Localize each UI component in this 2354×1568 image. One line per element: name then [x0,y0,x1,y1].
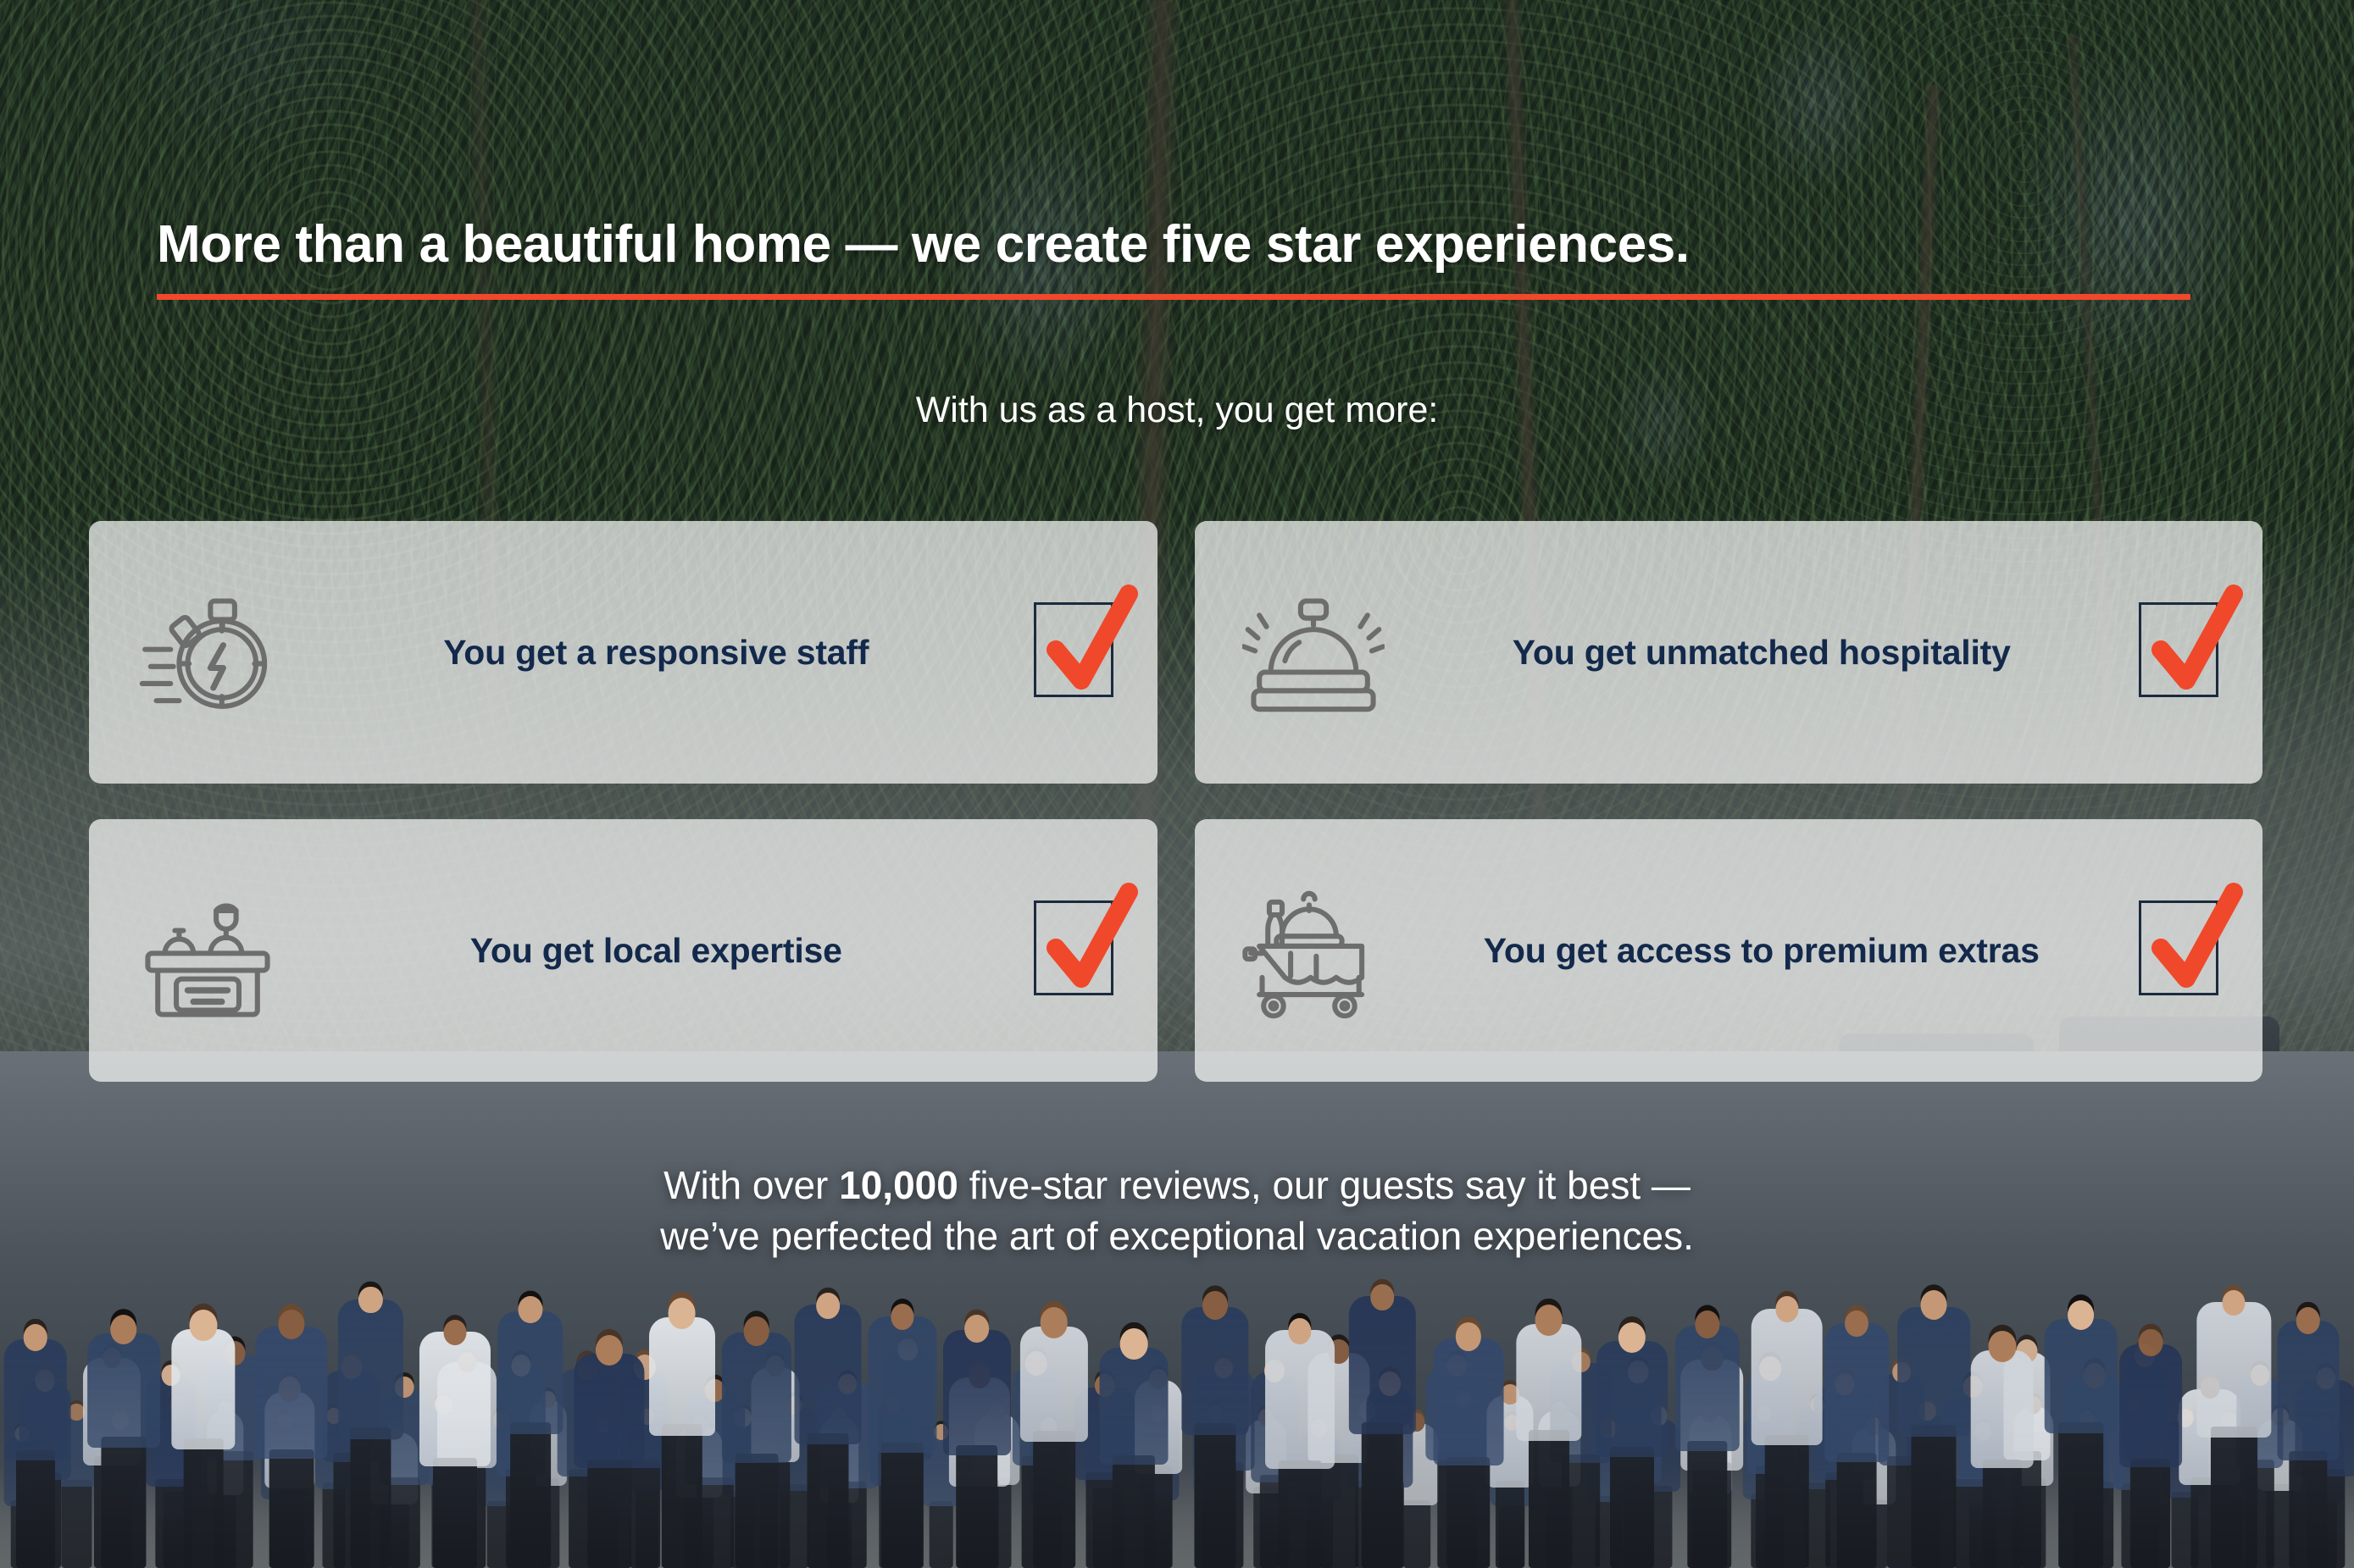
benefit-label: You get unmatched hospitality [1385,633,2140,673]
crowd-person [1825,1170,1890,1568]
person-torso [498,1311,564,1434]
stopwatch-lightning-icon [136,581,279,723]
crowd-person [1181,1170,1248,1568]
person-torso [1433,1338,1503,1465]
person-torso [795,1305,862,1443]
crowd-person [1898,1170,1971,1568]
person-legs [183,1438,223,1568]
crowd-person [1100,1170,1169,1568]
benefits-grid: You get a responsive staff [89,521,2262,1082]
person-legs [1446,1457,1490,1568]
person-head [1371,1284,1395,1310]
person-legs [1610,1447,1654,1568]
crowd-person [575,1170,645,1568]
person-legs [1912,1425,1957,1568]
person-legs [1362,1422,1403,1568]
person-head [1921,1290,1947,1320]
person-legs [1687,1441,1727,1568]
orange-checkmark-icon [2146,887,2247,1006]
person-torso [943,1330,1011,1455]
person-head [110,1315,137,1344]
concierge-desk-icon [136,879,279,1022]
person-torso [1100,1348,1169,1465]
room-service-cart-icon [1242,879,1385,1022]
person-torso [419,1332,491,1466]
person-legs [1983,1460,2022,1568]
person-head [1988,1331,2016,1362]
person-head [443,1320,466,1345]
person-legs [16,1450,55,1568]
person-legs [881,1443,924,1568]
person-torso [649,1317,715,1436]
crowd-person [87,1170,160,1568]
person-legs [2211,1427,2257,1568]
crowd-person [2277,1170,2339,1568]
benefit-label: You get access to premium extras [1385,931,2140,971]
headline-block: More than a beautiful home — we create f… [157,216,2190,300]
crowd-person [868,1170,936,1568]
person-legs [2289,1451,2327,1568]
crowd-person [1751,1170,1823,1568]
person-torso [1265,1330,1335,1468]
crowd-person [649,1170,715,1568]
checkbox-premium-extras[interactable] [2139,900,2224,1000]
person-torso [1825,1323,1890,1462]
person-legs [269,1449,314,1568]
person-legs [956,1445,998,1568]
page-headline: More than a beautiful home — we create f… [157,216,2190,274]
person-torso [575,1354,645,1468]
checkbox-responsive-staff[interactable] [1034,602,1119,702]
crowd-person [1020,1170,1088,1568]
person-torso [868,1316,936,1453]
service-bell-icon [1242,581,1385,723]
person-legs [1529,1430,1569,1568]
crowd-person [1596,1170,1668,1568]
person-torso [87,1333,160,1448]
person-head [278,1310,304,1339]
crowd-person [1675,1170,1740,1568]
benefit-card-premium-extras[interactable]: You get access to premium extras [1195,819,2263,1082]
crowd-person [338,1170,403,1568]
crowd-person [722,1170,791,1568]
person-head [2139,1329,2163,1356]
crowd-person [1433,1170,1503,1568]
orange-checkmark-icon [1041,589,1142,707]
person-head [358,1287,382,1314]
person-legs [1837,1453,1877,1568]
person-head [189,1310,217,1341]
crowd-person [2119,1170,2182,1568]
person-legs [661,1424,702,1568]
benefit-label: You get a responsive staff [279,633,1034,673]
benefit-label: You get local expertise [279,931,1034,971]
crowd-person [2197,1170,2271,1568]
person-head [2223,1290,2246,1316]
person-torso [1898,1307,1971,1437]
person-legs [510,1422,551,1568]
crowd-person [943,1170,1011,1568]
page-subheadline: With us as a host, you get more: [0,390,2354,431]
person-head [964,1315,990,1343]
person-torso [1751,1309,1823,1446]
person-head [743,1316,769,1345]
person-torso [2044,1319,2118,1434]
crowd-person [2044,1170,2118,1568]
person-legs [735,1454,778,1568]
person-legs [1033,1431,1075,1568]
person-head [2068,1300,2095,1331]
person-legs [1278,1460,1321,1568]
person-legs [2131,1459,2170,1568]
person-legs [2058,1422,2104,1568]
person-legs [588,1460,632,1568]
person-head [1535,1305,1563,1336]
person-head [519,1296,543,1324]
headline-accent-rule [157,294,2190,300]
crowd-person [4,1170,67,1568]
person-head [1288,1318,1311,1344]
person-head [1695,1310,1719,1338]
person-legs [433,1458,477,1568]
crowd-person [498,1170,564,1568]
person-torso [171,1329,235,1449]
crowd-person [1516,1170,1581,1568]
person-torso [1970,1350,2034,1468]
person-torso [1181,1307,1248,1435]
person-head [24,1324,48,1351]
person-torso [1596,1341,1668,1457]
person-head [1041,1307,1069,1338]
checkbox-local-expertise[interactable] [1034,900,1119,1000]
person-head [1202,1291,1228,1320]
checkbox-unmatched-hospitality[interactable] [2139,602,2224,702]
person-legs [808,1433,849,1568]
person-legs [1113,1455,1155,1568]
person-torso [1020,1327,1088,1442]
person-head [1456,1322,1481,1351]
person-head [1120,1328,1148,1360]
benefit-card-unmatched-hospitality[interactable]: You get unmatched hospitality [1195,521,2263,784]
person-torso [338,1299,403,1439]
crowd-person [795,1170,862,1568]
person-torso [2197,1302,2271,1438]
person-head [596,1335,623,1366]
crowd-person [171,1170,235,1568]
person-torso [1349,1296,1415,1434]
person-torso [722,1333,791,1463]
person-head [816,1293,840,1319]
crowd-person [1970,1170,2034,1568]
person-legs [1764,1435,1809,1568]
person-torso [4,1339,67,1460]
person-legs [1194,1423,1235,1568]
person-torso [255,1327,327,1459]
benefit-card-responsive-staff[interactable]: You get a responsive staff [89,521,1158,784]
crowd-person [419,1170,491,1568]
person-torso [1674,1326,1739,1451]
person-torso [2119,1344,2182,1468]
person-head [668,1298,696,1329]
crowd-person [1349,1170,1415,1568]
orange-checkmark-icon [1041,887,1142,1006]
person-head [2296,1307,2321,1334]
person-torso [2277,1321,2339,1460]
person-legs [351,1427,391,1568]
person-head [891,1304,913,1330]
person-legs [101,1437,146,1568]
benefit-card-local-expertise[interactable]: You get local expertise [89,819,1158,1082]
crowd-person [1265,1170,1335,1568]
person-torso [1516,1324,1581,1440]
person-head [1845,1310,1868,1337]
crowd-person [255,1170,327,1568]
orange-checkmark-icon [2146,589,2247,707]
